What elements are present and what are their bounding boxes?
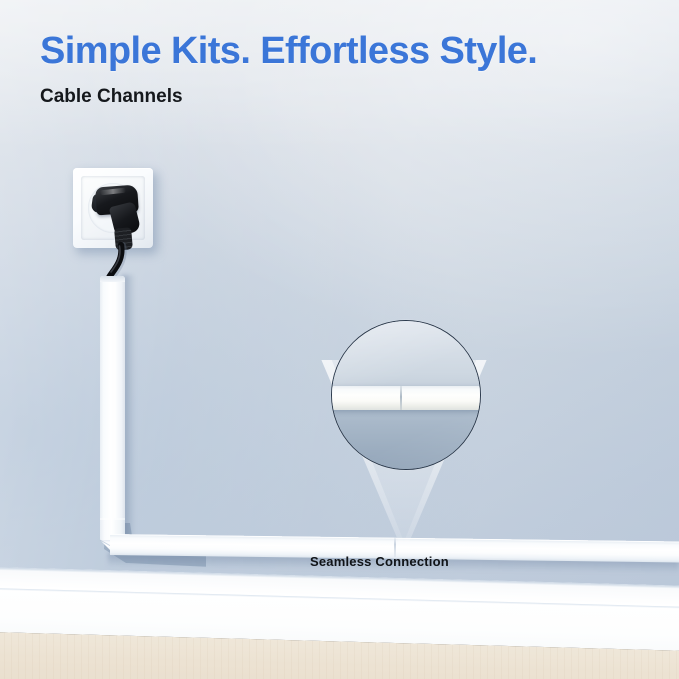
product-banner: Simple Kits. Effortless Style. Cable Cha…	[0, 0, 679, 679]
magnifier-gloss	[332, 321, 480, 469]
vertical-channel-end-cap	[100, 276, 125, 282]
plug-strain-relief	[114, 227, 133, 250]
feature-caption: Seamless Connection	[310, 554, 449, 569]
page-subtitle: Cable Channels	[40, 86, 183, 108]
magnifier-detail-circle	[331, 320, 481, 470]
page-title: Simple Kits. Effortless Style.	[40, 30, 537, 73]
vertical-cable-channel	[100, 276, 125, 538]
wall-top-glow	[0, 0, 679, 150]
